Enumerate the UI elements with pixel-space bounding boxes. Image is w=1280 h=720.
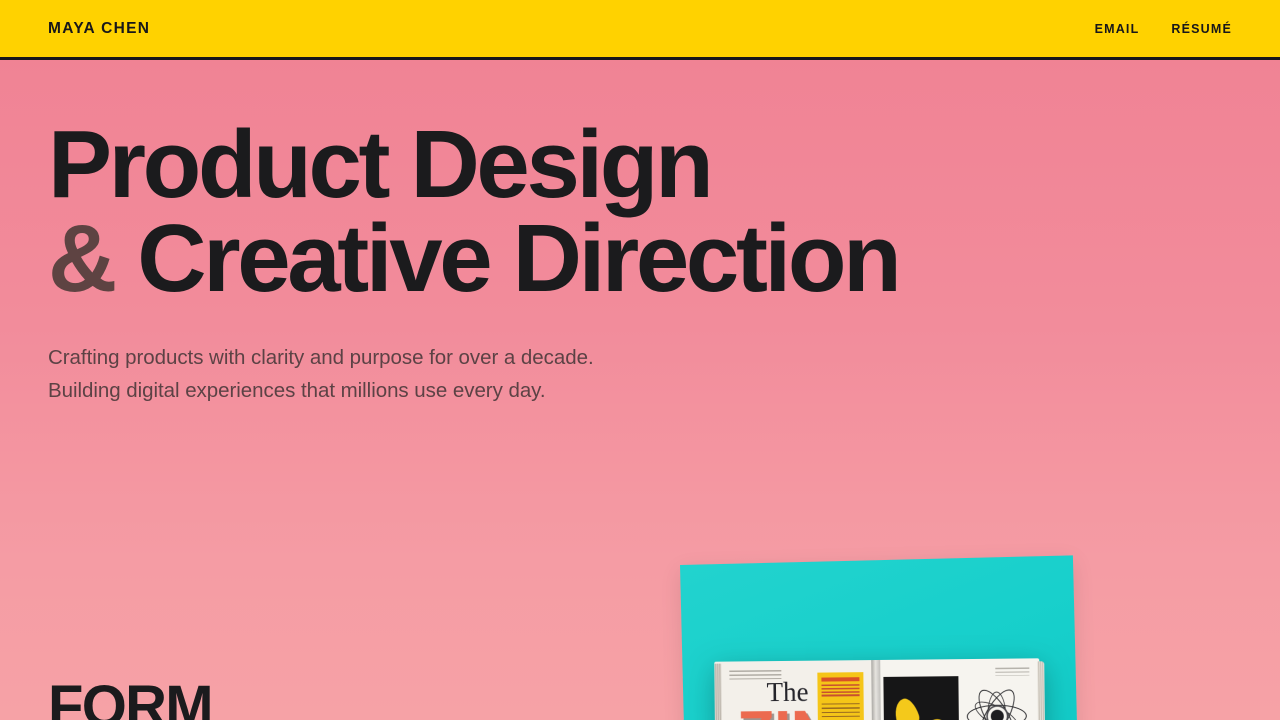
atom-nucleus xyxy=(990,709,1003,720)
section-heading-form: FORM xyxy=(48,678,212,720)
nav-link-email[interactable]: EMAIL xyxy=(1095,22,1140,36)
portfolio-landing-page: MAYA CHEN EMAIL RÉSUMÉ Product Design & … xyxy=(0,0,1280,720)
subhead-line-2: Building digital experiences that millio… xyxy=(48,379,546,402)
magazine-right-page xyxy=(875,658,1041,720)
subhead-line-1: Crafting products with clarity and purpo… xyxy=(48,346,594,369)
headline-line-2: Creative Direction xyxy=(137,205,898,312)
magazine-spread: The ZIN xyxy=(714,658,1041,720)
site-header: MAYA CHEN EMAIL RÉSUMÉ xyxy=(0,0,1280,60)
brand-wordmark[interactable]: MAYA CHEN xyxy=(48,20,150,38)
primary-nav: EMAIL RÉSUMÉ xyxy=(1095,22,1232,36)
magazine-yellow-sidebar xyxy=(817,672,864,720)
headline-ampersand: & xyxy=(48,205,114,312)
hero-section: Product Design & Creative Direction Craf… xyxy=(48,118,898,407)
sidebar-intro-text xyxy=(821,684,859,697)
headline-line-1: Product Design xyxy=(48,111,710,218)
black-art-panel xyxy=(883,676,959,720)
open-magazine-photo: The ZIN xyxy=(680,565,1073,720)
atom-diagram-icon xyxy=(965,684,1028,720)
sidebar-body-text xyxy=(822,703,860,720)
pear-shape-small xyxy=(891,696,922,720)
page-title: Product Design & Creative Direction xyxy=(48,118,898,306)
magazine-spine xyxy=(871,660,882,720)
nav-link-resume[interactable]: RÉSUMÉ xyxy=(1171,22,1232,36)
sidebar-headline xyxy=(821,677,859,681)
folio-text-right xyxy=(995,667,1029,675)
hero-subheading: Crafting products with clarity and purpo… xyxy=(48,342,898,407)
magazine-left-page: The ZIN xyxy=(714,660,877,720)
